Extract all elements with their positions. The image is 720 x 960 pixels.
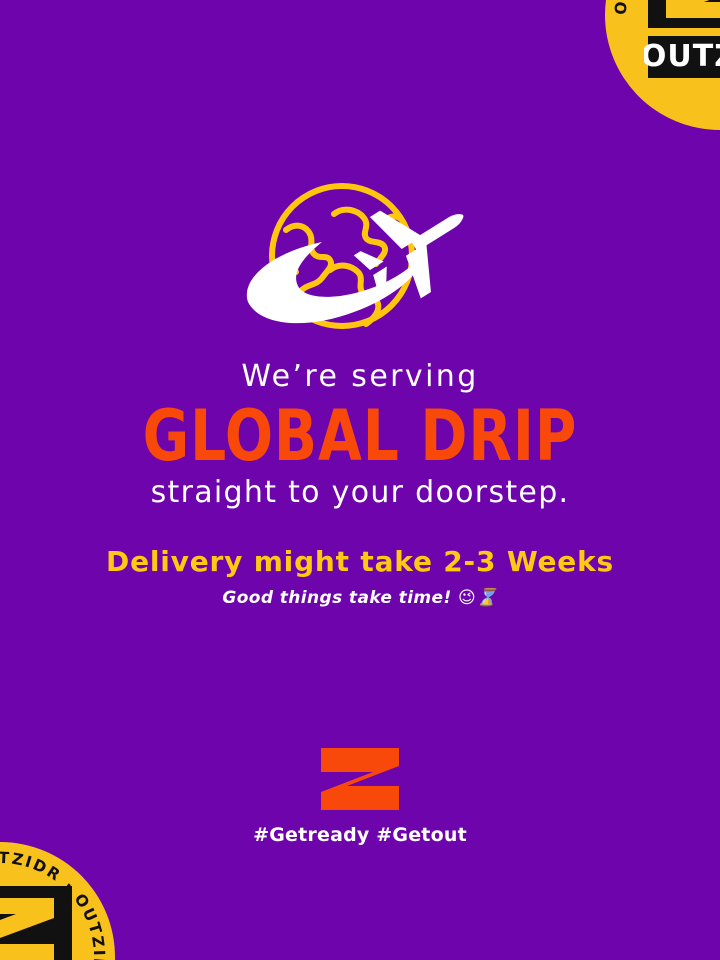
brand-z-logo-icon (321, 748, 399, 810)
badge-core-bottom-left: OUTZIDR (0, 882, 76, 960)
headline-text: GLOBAL DRIP (36, 404, 684, 470)
delivery-time-text: Delivery might take 2-3 Weeks (0, 548, 720, 576)
badge-core-label: OUTZIDR (644, 39, 720, 74)
poster-canvas: OUTZIDR · OUTZIDR · OUTZIDR · OUTZIDR (0, 0, 720, 960)
delivery-note-block: Delivery might take 2-3 Weeks Good thing… (0, 548, 720, 607)
headline-block: We’re serving GLOBAL DRIP straight to yo… (0, 362, 720, 508)
delivery-tagline-text: Good things take time! 😉⌛ (0, 590, 720, 607)
kicker-text: We’re serving (0, 362, 720, 392)
badge-bottom-left: OUTZIDR · OUTZIDR · OUTZIDR · OUTZIDR (0, 842, 115, 960)
subline-text: straight to your doorstep. (0, 478, 720, 508)
badge-top-right: OUTZIDR · OUTZIDR · OUTZIDR · OUTZIDR (605, 0, 720, 130)
badge-core-top-right: OUTZIDR (644, 0, 720, 90)
globe-airplane-icon (230, 174, 490, 346)
footer-block: #Getready #Getout (0, 748, 720, 846)
hashtags-text: #Getready #Getout (0, 824, 720, 846)
